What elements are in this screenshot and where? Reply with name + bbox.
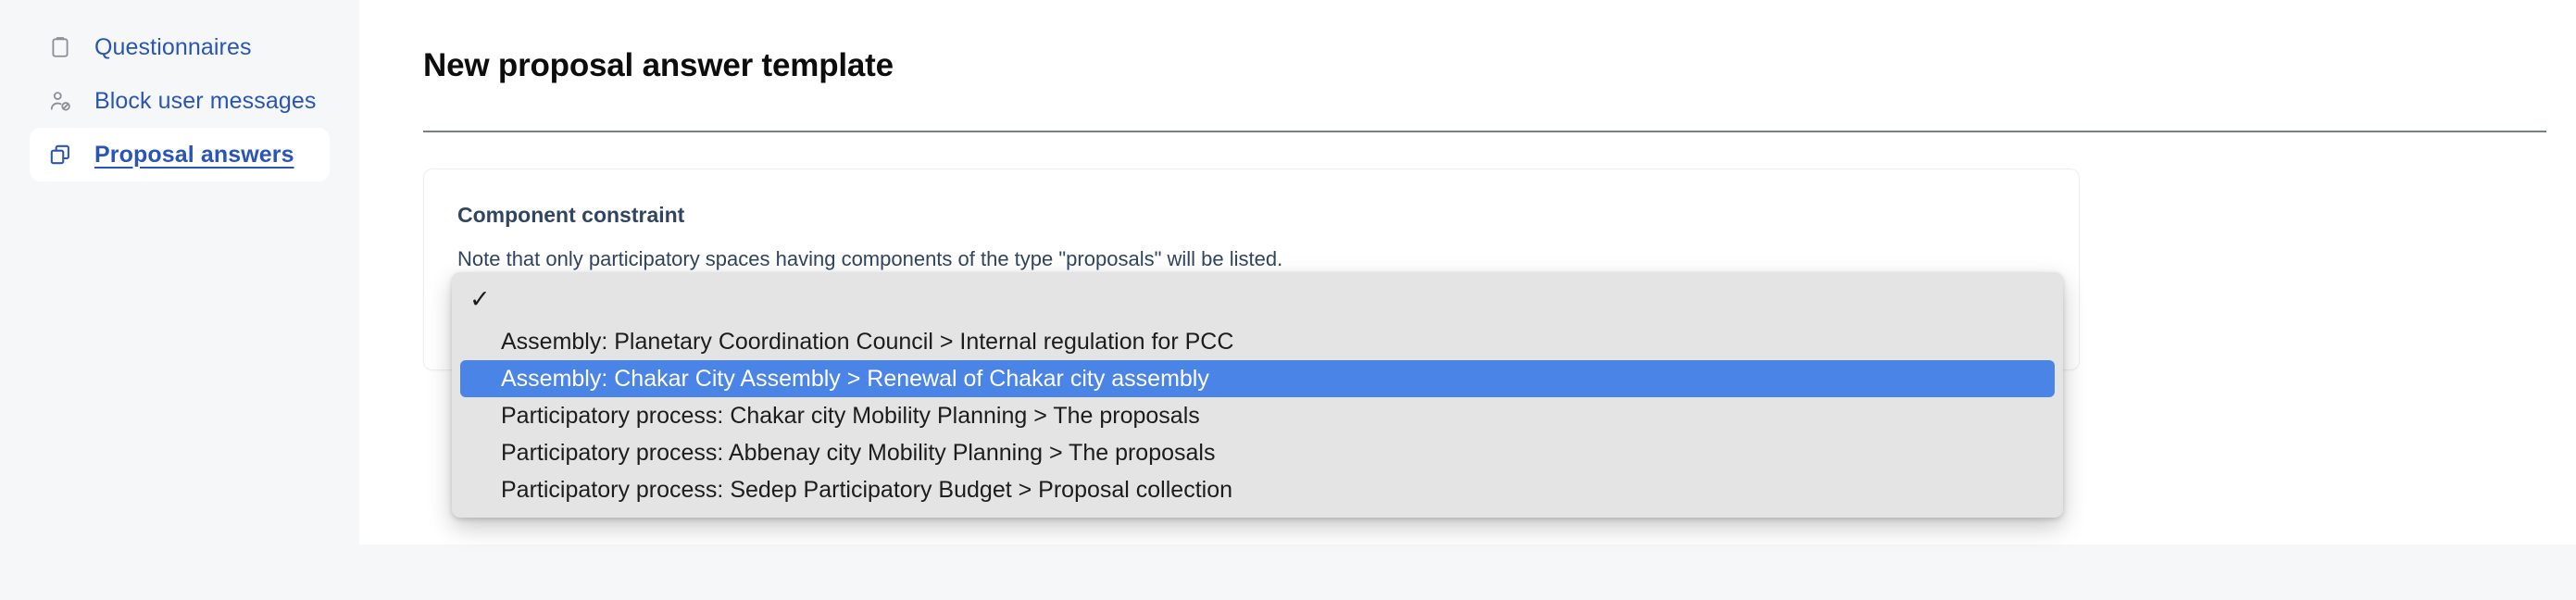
- dropdown-option-item[interactable]: Participatory process: Sedep Participato…: [460, 471, 2055, 508]
- participatory-space-dropdown[interactable]: ✓ Assembly: Planetary Coordination Counc…: [452, 272, 2063, 518]
- page-footer-strip: [359, 544, 2576, 572]
- sidebar-item-questionnaires[interactable]: Questionnaires: [30, 20, 330, 74]
- card-note: Note that only participatory spaces havi…: [457, 246, 2045, 273]
- copy-icon: [46, 141, 74, 169]
- dropdown-option-label: Assembly: Chakar City Assembly > Renewal…: [494, 368, 1209, 391]
- sidebar-item-proposal-answers[interactable]: Proposal answers: [30, 128, 330, 181]
- sidebar-item-block-user-messages[interactable]: Block user messages: [30, 74, 330, 128]
- dropdown-option-item[interactable]: Participatory process: Chakar city Mobil…: [460, 397, 2055, 434]
- sidebar-item-label: Questionnaires: [94, 34, 252, 61]
- sidebar: Questionnaires Block user messages: [0, 0, 359, 600]
- dropdown-option-label: Participatory process: Chakar city Mobil…: [494, 405, 1200, 428]
- dropdown-option-item[interactable]: Participatory process: Abbenay city Mobi…: [460, 434, 2055, 471]
- dropdown-option-item-highlighted[interactable]: Assembly: Chakar City Assembly > Renewal…: [460, 360, 2055, 397]
- clipboard-icon: [46, 33, 74, 61]
- dropdown-option-label: Assembly: Planetary Coordination Council…: [494, 331, 1233, 354]
- page-title: New proposal answer template: [423, 48, 2576, 84]
- title-divider: [423, 131, 2546, 132]
- user-blocked-icon: [46, 87, 74, 115]
- sidebar-item-label: Proposal answers: [94, 142, 294, 169]
- check-icon: ✓: [469, 287, 494, 312]
- dropdown-option-blank[interactable]: ✓: [460, 281, 2055, 318]
- sidebar-item-label: Block user messages: [94, 88, 317, 115]
- sidebar-nav-list: Questionnaires Block user messages: [0, 20, 359, 181]
- dropdown-option-label: Participatory process: Sedep Participato…: [494, 479, 1232, 502]
- card-heading: Component constraint: [457, 203, 2045, 229]
- dropdown-option-item[interactable]: Assembly: Planetary Coordination Council…: [460, 323, 2055, 360]
- dropdown-option-label: Participatory process: Abbenay city Mobi…: [494, 442, 1215, 465]
